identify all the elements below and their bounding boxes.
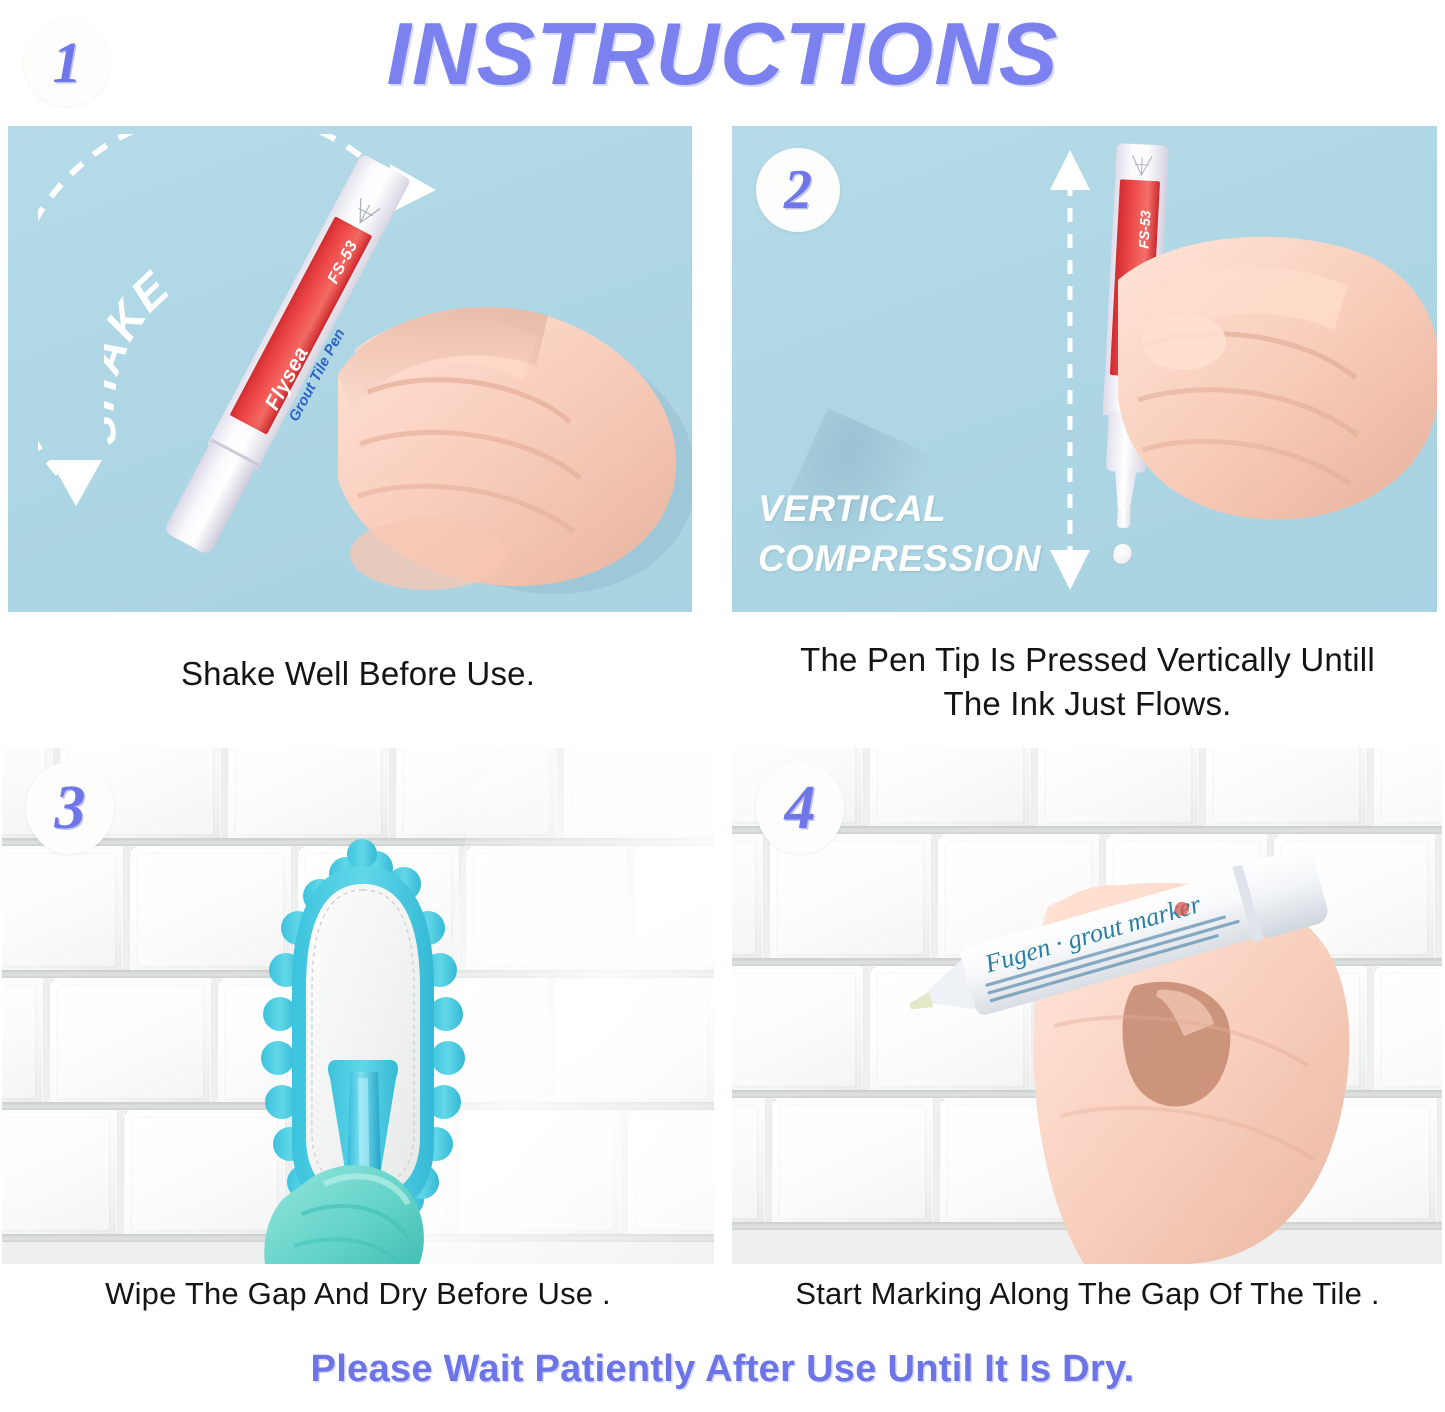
- vc-line-2: COMPRESSION: [758, 534, 1041, 584]
- step-panel-1: SHAKE Flysea FS-53 Grout Tile Pen: [8, 126, 692, 612]
- caption-step-2-line-1: The Pen Tip Is Pressed Vertically Untill: [730, 638, 1445, 682]
- shake-label: SHAKE: [104, 261, 180, 449]
- caption-step-3: Wipe The Gap And Dry Before Use .: [0, 1272, 716, 1316]
- pen-crest-icon: [1127, 152, 1157, 183]
- pen-cap: [163, 441, 257, 555]
- step-badge-3: 3: [26, 762, 114, 854]
- hand-pressing-pen: [1112, 222, 1437, 552]
- step-number-2: 2: [784, 162, 812, 218]
- hand-holding-pen: [308, 254, 692, 612]
- grout-marker-product: Fugen · grout marker: [890, 856, 1360, 1036]
- gloved-hand: [254, 1148, 444, 1264]
- caption-step-1: Shake Well Before Use.: [0, 652, 716, 696]
- step-number-3: 3: [55, 777, 86, 839]
- step-badge-2: 2: [756, 148, 840, 232]
- svg-text:SHAKE: SHAKE: [104, 261, 180, 449]
- step-badge-1: 1: [24, 20, 110, 106]
- caption-step-4: Start Marking Along The Gap Of The Tile …: [730, 1272, 1445, 1316]
- footer-note: Please Wait Patiently After Use Until It…: [0, 1348, 1445, 1391]
- step-badge-4: 4: [756, 762, 844, 854]
- vertical-compression-label: VERTICAL COMPRESSION: [758, 484, 1041, 584]
- vc-line-1: VERTICAL: [758, 488, 946, 529]
- caption-step-2: The Pen Tip Is Pressed Vertically Untill…: [730, 638, 1445, 726]
- caption-step-2-line-2: The Ink Just Flows.: [730, 682, 1445, 726]
- page-title: INSTRUCTIONS: [0, 2, 1445, 106]
- step-number-1: 1: [53, 34, 82, 92]
- step-number-4: 4: [785, 777, 816, 839]
